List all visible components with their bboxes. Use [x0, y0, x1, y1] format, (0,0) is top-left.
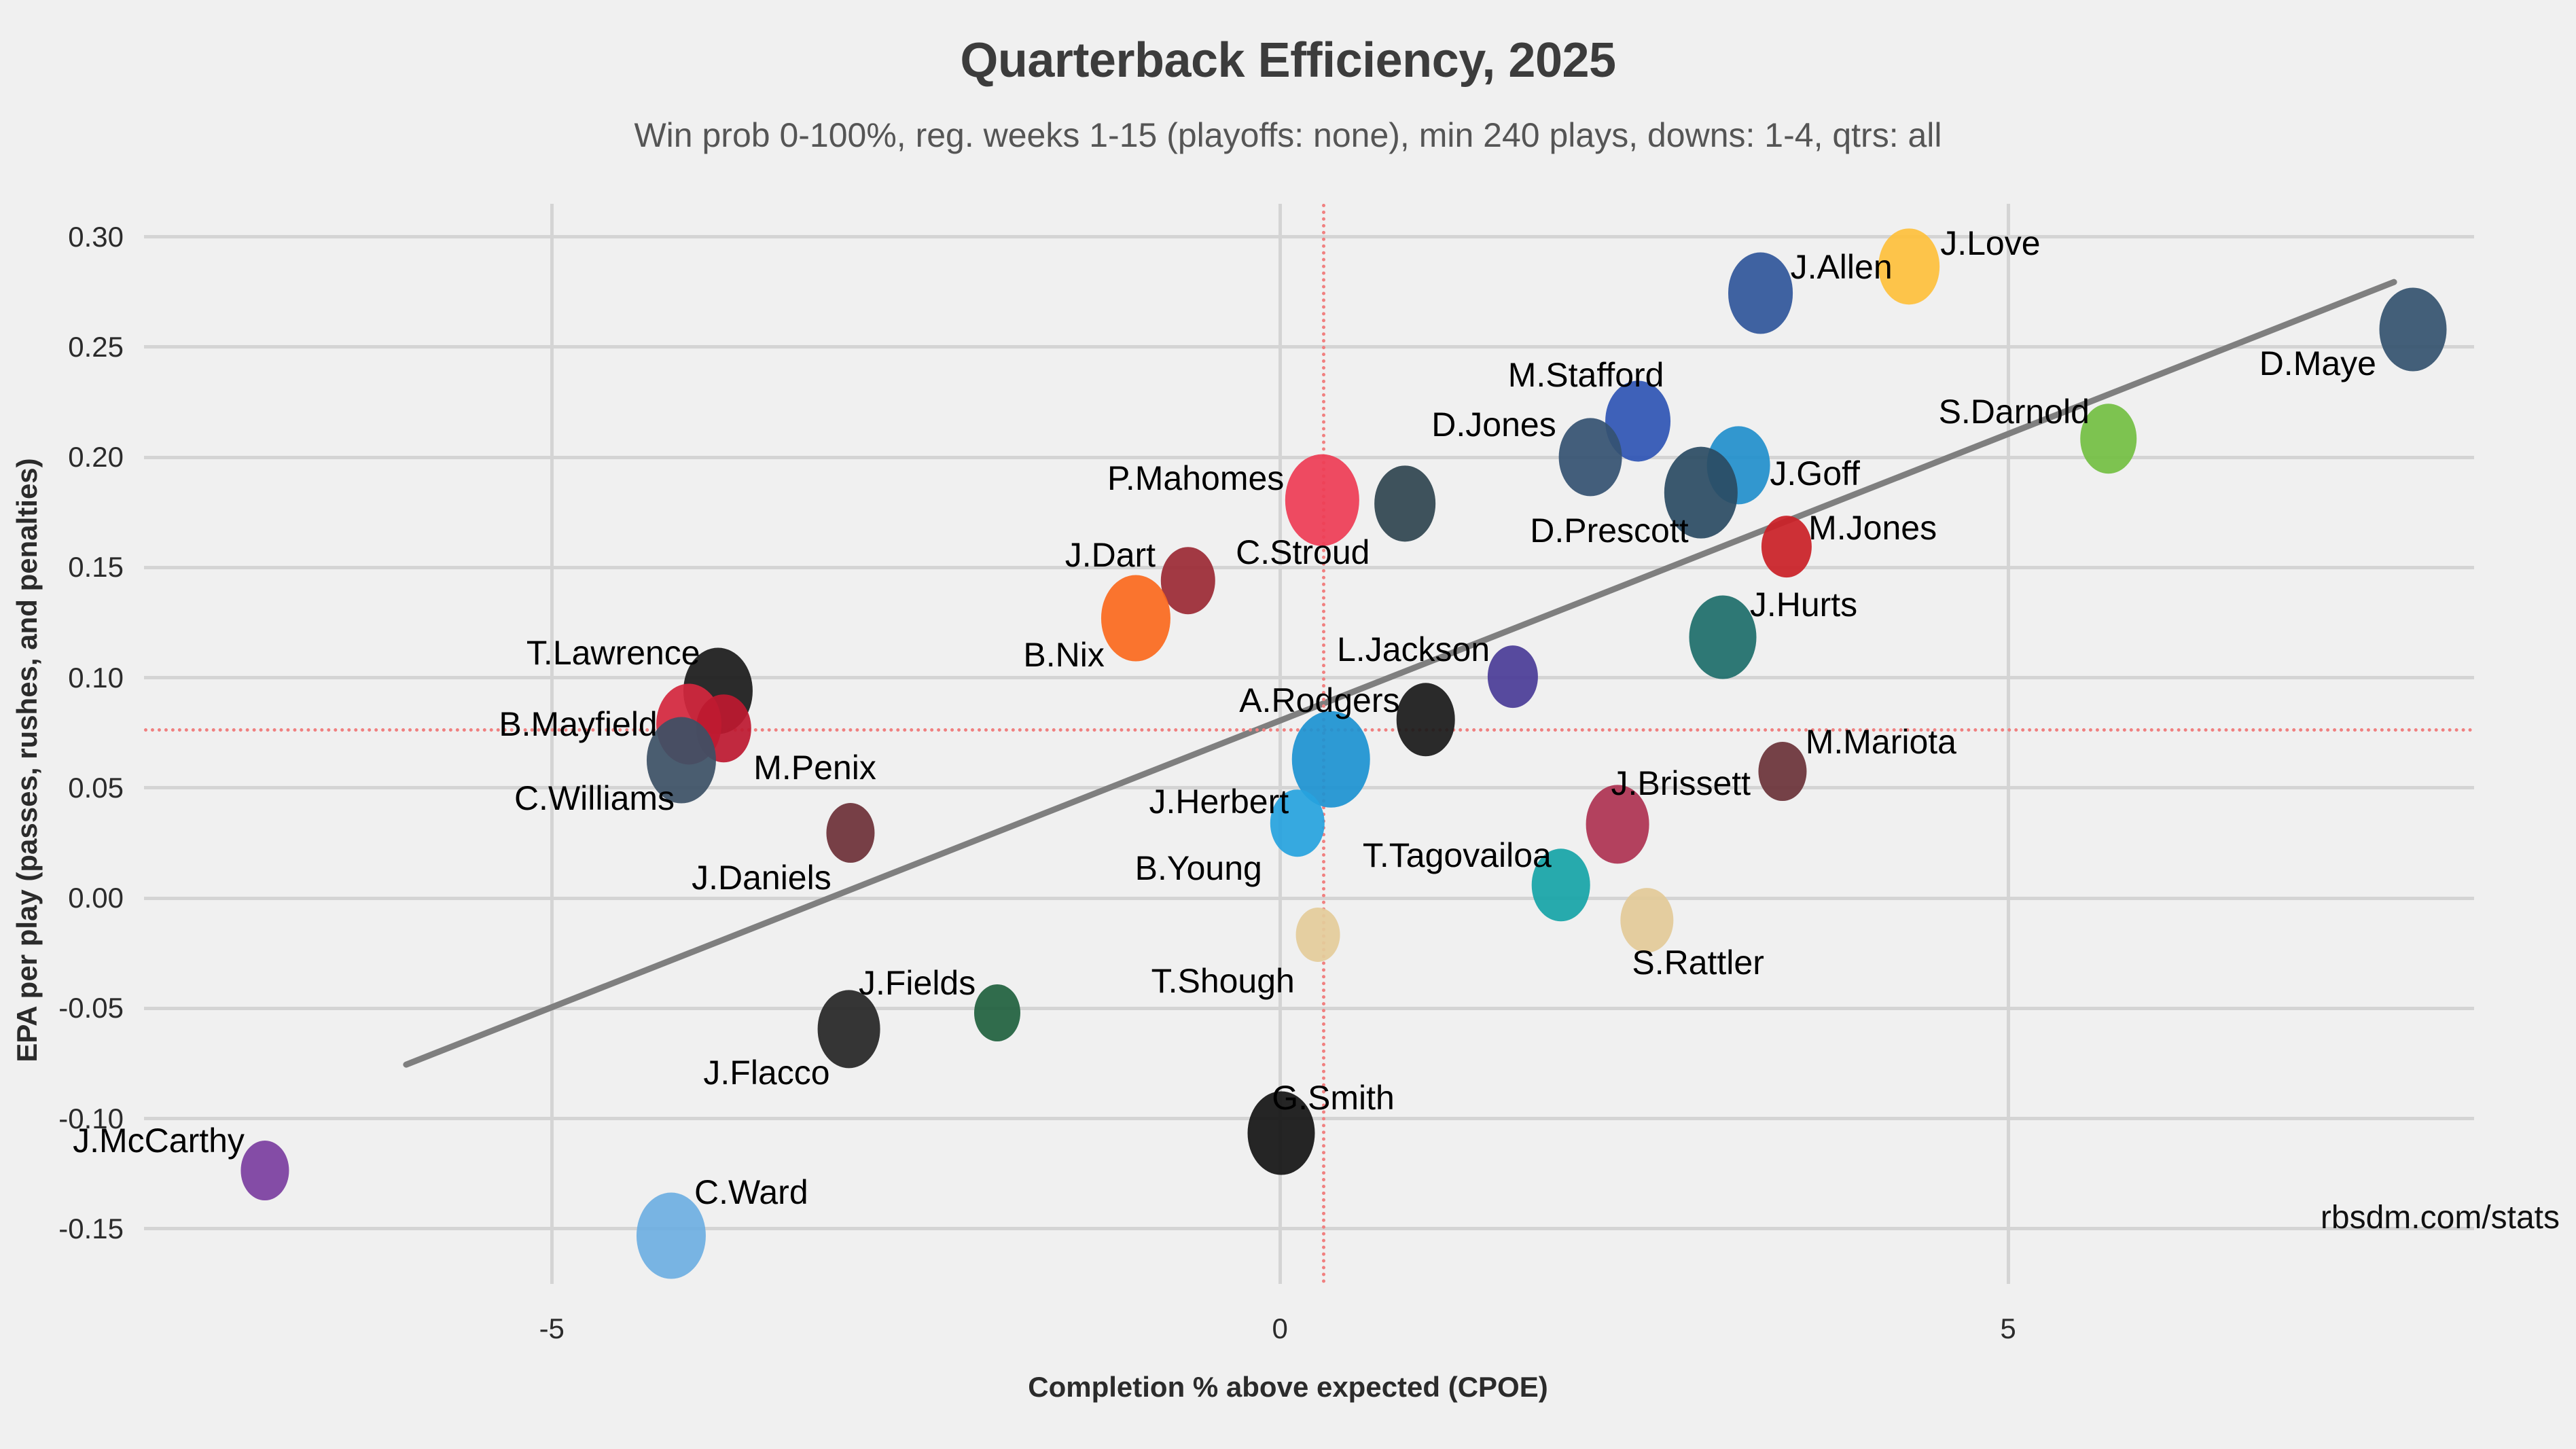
x-tick-label: 5: [1940, 1312, 2076, 1345]
data-point-label: B.Young: [1135, 848, 1262, 888]
data-point[interactable]: [974, 984, 1020, 1041]
data-point-label: J.Herbert: [1149, 782, 1289, 821]
data-point-label: G.Smith: [1272, 1078, 1395, 1117]
x-tick-label: 0: [1212, 1312, 1348, 1345]
data-point[interactable]: [1761, 516, 1812, 578]
data-point-label: A.Rodgers: [1239, 681, 1399, 720]
data-point-label: J.Dart: [1065, 535, 1156, 575]
x-axis-title: Completion % above expected (CPOE): [0, 1371, 2576, 1403]
data-point-label: P.Mahomes: [1107, 459, 1284, 498]
data-point[interactable]: [240, 1141, 289, 1200]
data-point[interactable]: [1728, 253, 1793, 334]
data-point-label: J.Flacco: [703, 1053, 829, 1092]
data-point-label: S.Rattler: [1632, 943, 1764, 982]
data-point[interactable]: [1488, 645, 1538, 708]
data-point-label: J.Goff: [1770, 454, 1859, 493]
data-point-label: D.Maye: [2259, 344, 2376, 383]
watermark: rbsdm.com/stats: [2321, 1199, 2560, 1236]
data-point-label: B.Mayfield: [499, 704, 657, 744]
data-point[interactable]: [1689, 595, 1756, 679]
data-point[interactable]: [2379, 287, 2446, 371]
data-point-label: C.Ward: [694, 1173, 808, 1212]
data-point-label: T.Shough: [1151, 961, 1295, 1001]
data-point-label: L.Jackson: [1337, 630, 1490, 669]
data-point-label: D.Jones: [1431, 405, 1556, 444]
chart-title: Quarterback Efficiency, 2025: [0, 33, 2576, 88]
data-point[interactable]: [1396, 683, 1455, 756]
data-point-label: J.Love: [1940, 223, 2040, 263]
data-point[interactable]: [826, 803, 874, 863]
data-point-label: J.Allen: [1791, 247, 1893, 287]
data-point-label: S.Darnold: [1939, 392, 2090, 431]
data-point[interactable]: [1758, 742, 1806, 802]
data-point-label: J.Hurts: [1750, 585, 1857, 624]
chart-canvas: Quarterback Efficiency, 2025 Win prob 0-…: [0, 0, 2576, 1449]
data-point-label: T.Tagovailoa: [1363, 836, 1552, 875]
data-point[interactable]: [1161, 547, 1215, 615]
data-point-label: B.Nix: [1023, 635, 1104, 675]
data-point-label: M.Mariota: [1806, 722, 1956, 762]
data-point[interactable]: [1295, 908, 1340, 962]
data-point-label: T.Lawrence: [526, 633, 700, 673]
data-point-label: M.Stafford: [1508, 355, 1664, 395]
data-point-label: J.Brissett: [1611, 764, 1751, 803]
data-point-label: M.Jones: [1808, 508, 1937, 548]
data-point-label: J.Daniels: [692, 858, 831, 897]
y-axis-title: EPA per play (passes, rushes, and penalt…: [11, 217, 43, 1304]
plot-area: J.AllenJ.LoveD.MayeS.DarnoldM.StaffordD.…: [144, 204, 2474, 1284]
data-point-label: C.Stroud: [1236, 533, 1370, 572]
data-point[interactable]: [1558, 418, 1622, 497]
x-tick-label: -5: [484, 1312, 620, 1345]
data-point-label: C.Williams: [514, 779, 675, 818]
data-point[interactable]: [1101, 575, 1170, 662]
chart-subtitle: Win prob 0-100%, reg. weeks 1-15 (playof…: [0, 115, 2576, 155]
data-point[interactable]: [1375, 466, 1436, 541]
data-point-label: J.Fields: [859, 963, 976, 1003]
data-point-label: M.Penix: [753, 748, 876, 787]
data-point-label: D.Prescott: [1530, 511, 1688, 550]
